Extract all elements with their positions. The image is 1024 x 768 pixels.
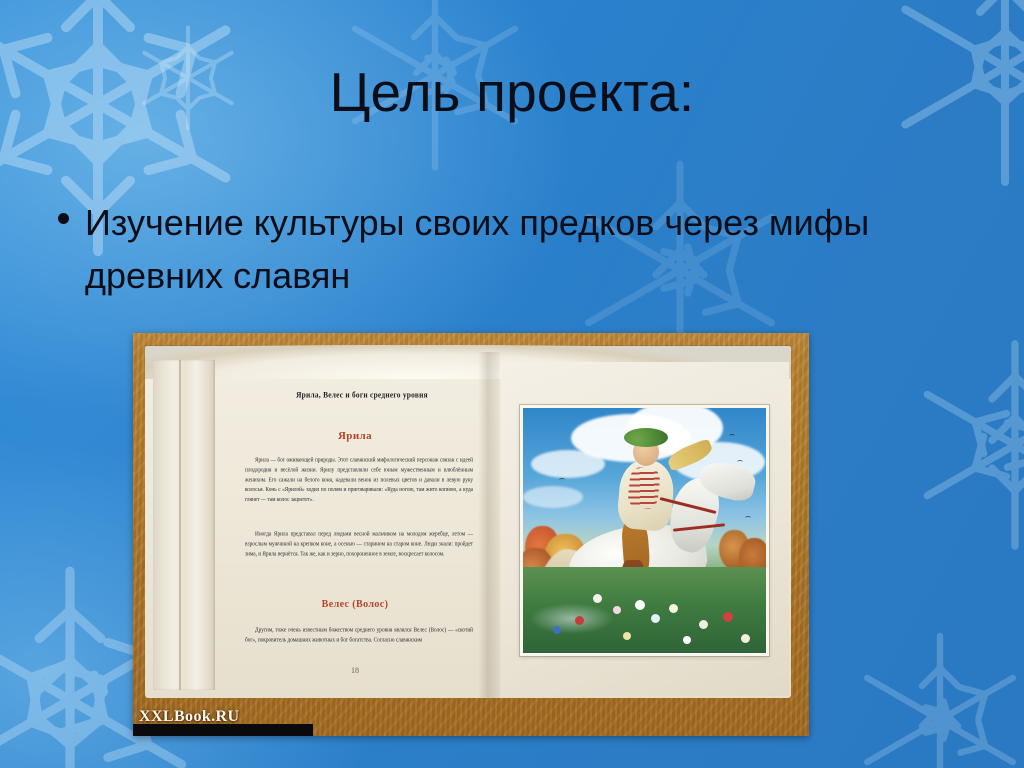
list-item: Изучение культуры своих предков через ми…: [58, 196, 958, 303]
flower-shape: [613, 606, 621, 614]
bird-icon: [737, 460, 743, 464]
presentation-slide: Цель проекта: Изучение культуры своих пр…: [0, 0, 1024, 768]
page-edge-stack: [153, 360, 215, 690]
section-heading-yarila: Ярила: [221, 430, 489, 442]
illustration-frame: [520, 405, 769, 656]
body-paragraph: Ярила — бог оживающей природы. Этот слав…: [245, 456, 473, 506]
running-header: Ярила, Велес и боги среднего уровня: [249, 389, 475, 399]
flower-shape: [593, 594, 602, 603]
flower-shape: [683, 636, 691, 644]
body-paragraph: Иногда Ярила представал перед людьми вес…: [245, 530, 473, 560]
section-heading-veles: Велес (Волос): [221, 599, 489, 610]
flower-shape: [699, 620, 708, 629]
book-pages: Ярила, Велес и боги среднего уровня Ярил…: [145, 346, 791, 698]
flower-meadow: [523, 567, 766, 653]
bullet-text: Изучение культуры своих предков через ми…: [85, 196, 915, 303]
flower-shape: [723, 612, 733, 622]
page-number: 18: [221, 666, 489, 675]
rider-flower-wreath: [624, 428, 668, 447]
bullet-list: Изучение культуры своих предков через ми…: [58, 196, 958, 303]
flower-shape: [575, 616, 584, 625]
watermark-text: XXLBook.RU: [139, 708, 239, 726]
bullet-dot-icon: [58, 213, 69, 224]
snowflake-icon: [840, 620, 1024, 768]
bird-icon: [559, 478, 565, 482]
flower-shape: [651, 614, 660, 623]
slide-title: Цель проекта:: [0, 64, 1024, 122]
flower-shape: [623, 632, 631, 640]
rider-embroidery: [627, 467, 661, 510]
body-paragraph: Другим, тоже очень известным божеством с…: [245, 626, 473, 646]
flower-shape: [553, 626, 561, 634]
book-right-page: [501, 362, 789, 696]
flower-shape: [741, 634, 750, 643]
snowflake-icon: [900, 330, 1024, 560]
bird-icon: [745, 516, 751, 520]
flower-shape: [669, 604, 678, 613]
cloud-shape: [523, 486, 583, 508]
bird-icon: [729, 434, 735, 438]
cloud-shape: [531, 450, 605, 478]
book-left-page: Ярила, Велес и боги среднего уровня Ярил…: [221, 364, 489, 694]
flower-shape: [635, 600, 645, 610]
yarilo-on-white-horse-illustration: [523, 408, 766, 653]
open-book-photograph: Ярила, Велес и боги среднего уровня Ярил…: [133, 333, 809, 736]
